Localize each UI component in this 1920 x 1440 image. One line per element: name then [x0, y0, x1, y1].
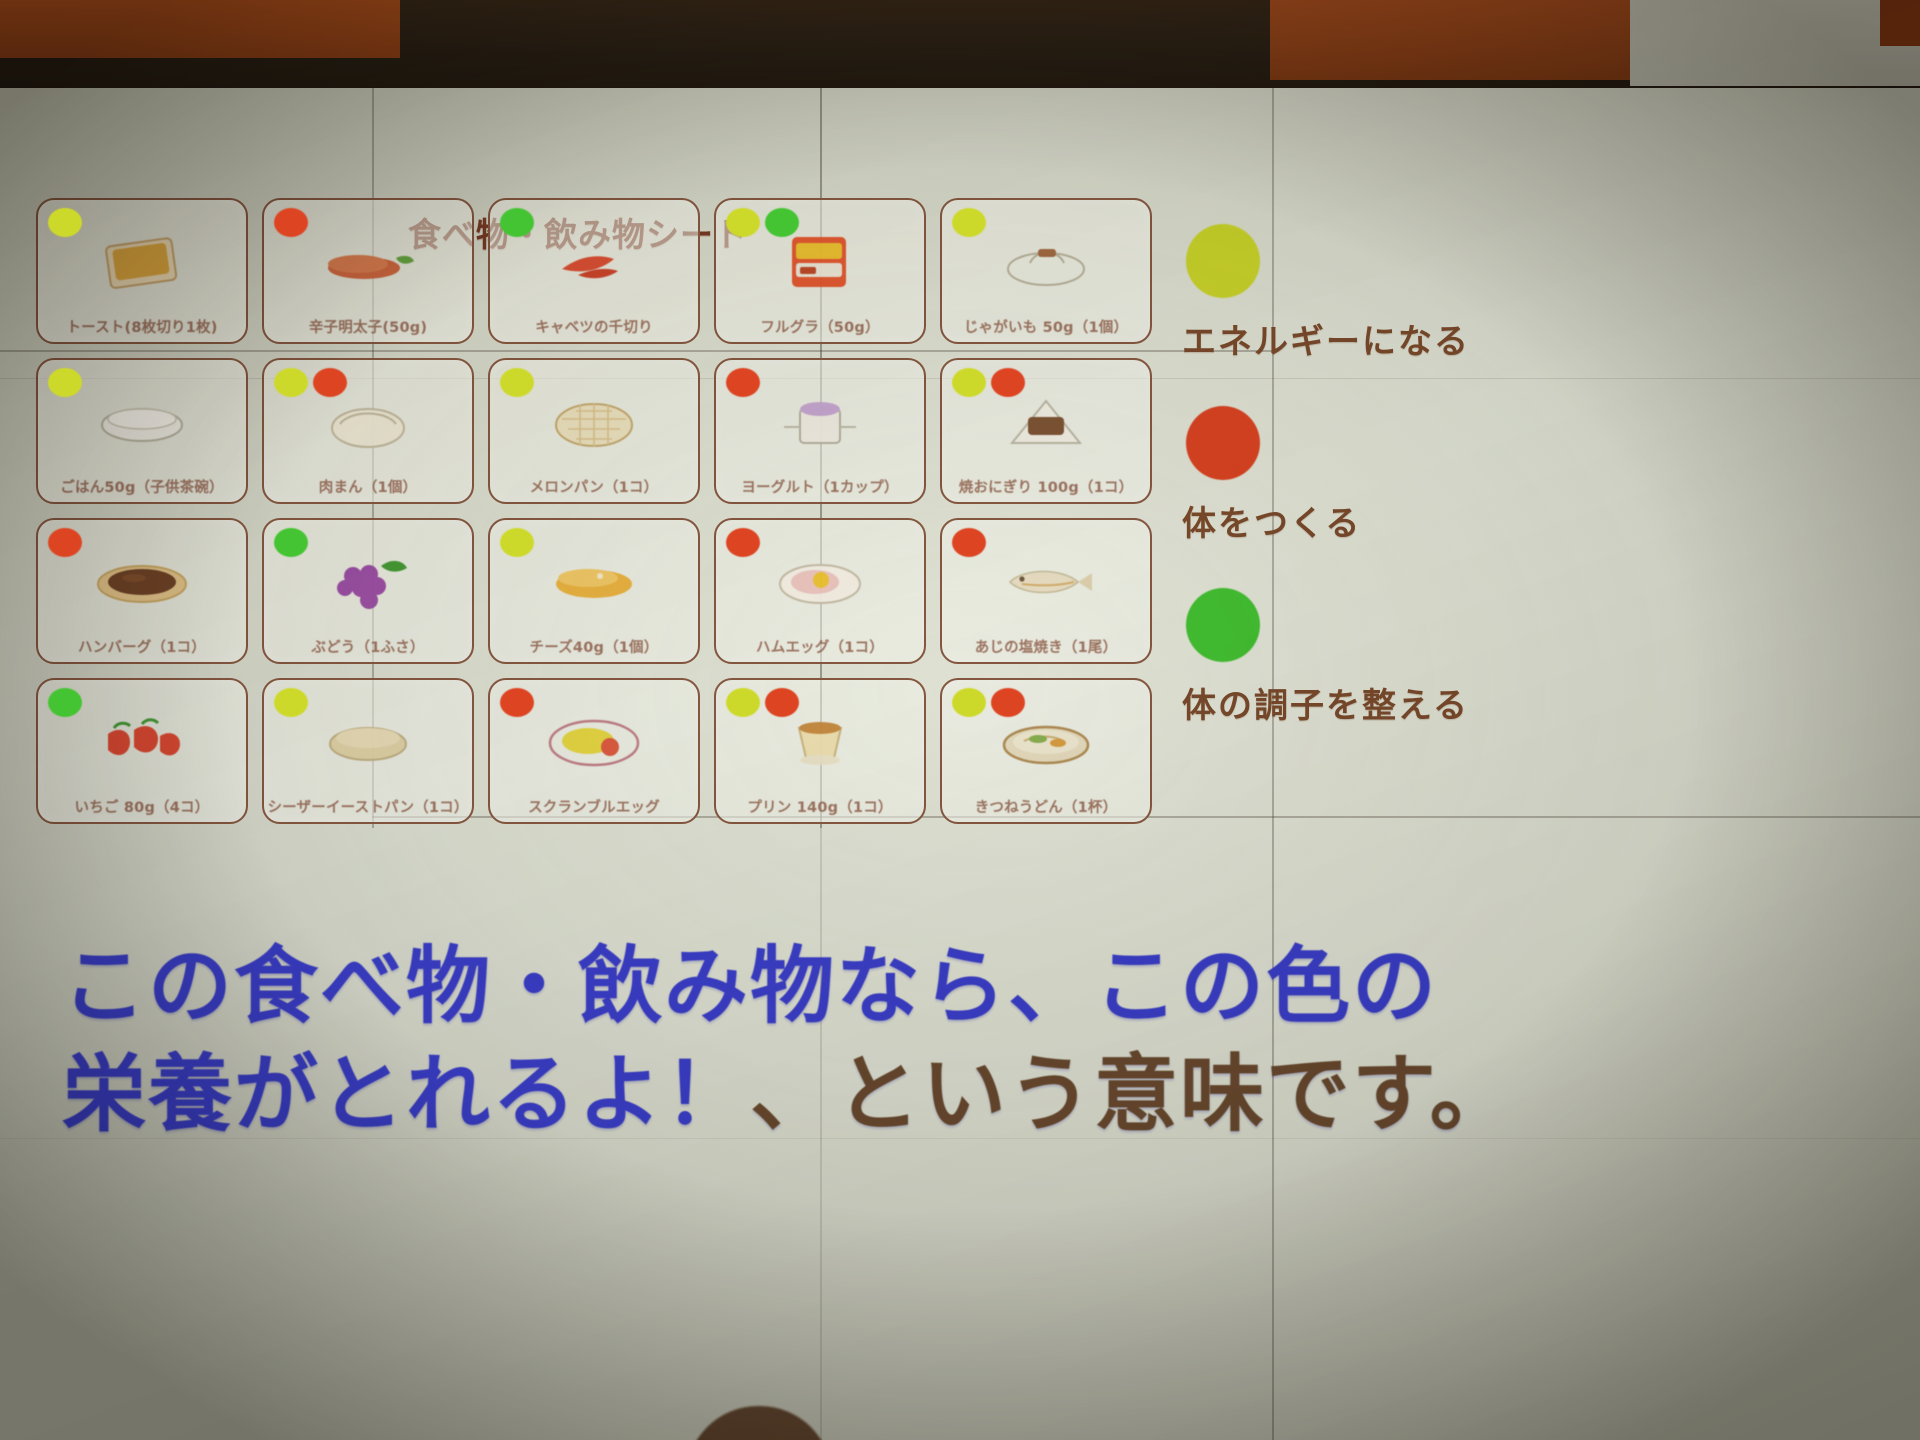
food-card-label: 肉まん（1個）: [264, 476, 472, 497]
nutrition-dot-group: [48, 528, 82, 557]
food-card[interactable]: きつねうどん（1杯）: [940, 678, 1152, 824]
wall-panel-left: [0, 0, 400, 58]
food-card-label: キャベツの千切り: [490, 316, 698, 337]
poster-photo: 食べ物・飲み物シート トースト(8枚切り1枚)辛子明太子(50g)キャベツの千切…: [0, 0, 1920, 1440]
nutrition-dot-red: [726, 528, 760, 557]
nutrition-dot-green: [500, 208, 534, 237]
nutrition-dot-yellow: [274, 688, 308, 717]
food-card-label: メロンパン（1コ）: [490, 476, 698, 497]
legend-item-green: 体の調子を整える: [1178, 582, 1878, 764]
nutrition-dot-red: [48, 528, 82, 557]
food-card-label: じゃがいも 50g（1個）: [942, 316, 1150, 337]
food-card[interactable]: ぶどう（1ふさ）: [262, 518, 474, 664]
nutrition-dot-group: [726, 688, 799, 717]
nutrition-dot-red: [991, 368, 1025, 397]
legend-dot-red: [1186, 406, 1260, 480]
food-card[interactable]: あじの塩焼き（1尾）: [940, 518, 1152, 664]
food-card-label: スクランブルエッグ: [490, 796, 698, 817]
wall-panel-white: [1630, 0, 1920, 86]
wall-background: [0, 0, 1920, 92]
food-card[interactable]: 焼おにぎり 100g（1コ）: [940, 358, 1152, 504]
caption-line-2-b: 、という意味です。: [750, 1045, 1516, 1143]
food-card[interactable]: スクランブルエッグ: [488, 678, 700, 824]
wall-panel-corner: [1880, 0, 1920, 46]
nutrition-dot-yellow: [952, 688, 986, 717]
food-card[interactable]: メロンパン（1コ）: [488, 358, 700, 504]
nutrition-dot-red: [313, 368, 347, 397]
nutrition-dot-green: [765, 208, 799, 237]
nutrition-dot-group: [500, 688, 534, 717]
nutrition-dot-red: [765, 688, 799, 717]
nutrition-dot-yellow: [48, 208, 82, 237]
legend-label: エネルギーになる: [1182, 314, 1470, 363]
legend-item-red: 体をつくる: [1178, 400, 1878, 582]
person-silhouette: [686, 1406, 832, 1440]
legend-label: 体の調子を整える: [1182, 678, 1469, 727]
food-card-label: 焼おにぎり 100g（1コ）: [942, 476, 1150, 497]
nutrition-dot-group: [726, 528, 760, 557]
nutrition-dot-red: [952, 528, 986, 557]
nutrition-dot-group: [274, 368, 347, 397]
food-card[interactable]: ハムエッグ（1コ）: [714, 518, 926, 664]
food-card-label: あじの塩焼き（1尾）: [942, 636, 1150, 657]
nutrition-dot-group: [48, 208, 82, 237]
nutrition-dot-yellow: [952, 208, 986, 237]
nutrition-dot-group: [500, 208, 534, 237]
nutrition-dot-group: [952, 688, 1025, 717]
caption-line-2-a: 栄養がとれるよ！: [62, 1045, 750, 1143]
food-card-label: ヨーグルト（1カップ）: [716, 476, 924, 497]
food-card[interactable]: 肉まん（1個）: [262, 358, 474, 504]
food-card-label: チーズ40g（1個）: [490, 636, 698, 657]
nutrition-dot-group: [500, 528, 534, 557]
caption-line-2: 栄養がとれるよ！、という意味です。: [62, 1041, 1862, 1149]
nutrition-legend: エネルギーになる体をつくる体の調子を整える: [1178, 218, 1878, 764]
nutrition-dot-group: [274, 208, 308, 237]
food-card[interactable]: じゃがいも 50g（1個）: [940, 198, 1152, 344]
nutrition-dot-red: [500, 688, 534, 717]
nutrition-dot-group: [726, 208, 799, 237]
food-card[interactable]: キャベツの千切り: [488, 198, 700, 344]
nutrition-dot-group: [952, 368, 1025, 397]
legend-dot-green: [1186, 588, 1260, 662]
food-card[interactable]: 辛子明太子(50g): [262, 198, 474, 344]
food-card-grid: トースト(8枚切り1枚)辛子明太子(50g)キャベツの千切りフルグラ（50g）じ…: [36, 198, 1156, 868]
food-card[interactable]: ヨーグルト（1カップ）: [714, 358, 926, 504]
food-card[interactable]: トースト(8枚切り1枚): [36, 198, 248, 344]
nutrition-dot-red: [274, 208, 308, 237]
food-card-label: ごはん50g（子供茶碗）: [38, 476, 246, 497]
food-card-label: ハンバーグ（1コ）: [38, 636, 246, 657]
nutrition-dot-group: [952, 208, 986, 237]
nutrition-dot-group: [48, 368, 82, 397]
nutrition-dot-red: [991, 688, 1025, 717]
food-card-label: ぶどう（1ふさ）: [264, 636, 472, 657]
food-card[interactable]: いちご 80g（4コ）: [36, 678, 248, 824]
food-card-label: シーザーイーストパン（1コ）: [264, 796, 472, 817]
food-card[interactable]: シーザーイーストパン（1コ）: [262, 678, 474, 824]
nutrition-dot-group: [274, 688, 308, 717]
caption-text: この食べ物・飲み物なら、この色の 栄養がとれるよ！、という意味です。: [62, 933, 1862, 1148]
food-card-label: きつねうどん（1杯）: [942, 796, 1150, 817]
legend-item-yellow: エネルギーになる: [1178, 218, 1878, 400]
food-card-label: いちご 80g（4コ）: [38, 796, 246, 817]
nutrition-dot-red: [726, 368, 760, 397]
food-card[interactable]: チーズ40g（1個）: [488, 518, 700, 664]
nutrition-dot-yellow: [726, 688, 760, 717]
legend-dot-yellow: [1186, 224, 1260, 298]
food-card[interactable]: プリン 140g（1コ）: [714, 678, 926, 824]
nutrition-dot-group: [952, 528, 986, 557]
food-card-label: トースト(8枚切り1枚): [38, 316, 246, 337]
food-card-label: ハムエッグ（1コ）: [716, 636, 924, 657]
food-card-label: 辛子明太子(50g): [264, 316, 472, 337]
nutrition-dot-yellow: [48, 368, 82, 397]
legend-label: 体をつくる: [1182, 496, 1361, 545]
nutrition-dot-group: [500, 368, 534, 397]
food-card[interactable]: ハンバーグ（1コ）: [36, 518, 248, 664]
wall-panel-right: [1270, 0, 1630, 80]
food-card-label: プリン 140g（1コ）: [716, 796, 924, 817]
caption-line-1: この食べ物・飲み物なら、この色の: [62, 933, 1862, 1041]
food-card[interactable]: ごはん50g（子供茶碗）: [36, 358, 248, 504]
poster-sheet: 食べ物・飲み物シート トースト(8枚切り1枚)辛子明太子(50g)キャベツの千切…: [0, 88, 1920, 1440]
nutrition-dot-yellow: [500, 528, 534, 557]
food-card-label: フルグラ（50g）: [716, 316, 924, 337]
nutrition-dot-yellow: [274, 368, 308, 397]
nutrition-dot-yellow: [952, 368, 986, 397]
nutrition-dot-yellow: [726, 208, 760, 237]
nutrition-dot-group: [274, 528, 308, 557]
food-card[interactable]: フルグラ（50g）: [714, 198, 926, 344]
nutrition-dot-yellow: [500, 368, 534, 397]
nutrition-dot-group: [726, 368, 760, 397]
nutrition-dot-group: [48, 688, 82, 717]
nutrition-dot-green: [274, 528, 308, 557]
nutrition-dot-green: [48, 688, 82, 717]
